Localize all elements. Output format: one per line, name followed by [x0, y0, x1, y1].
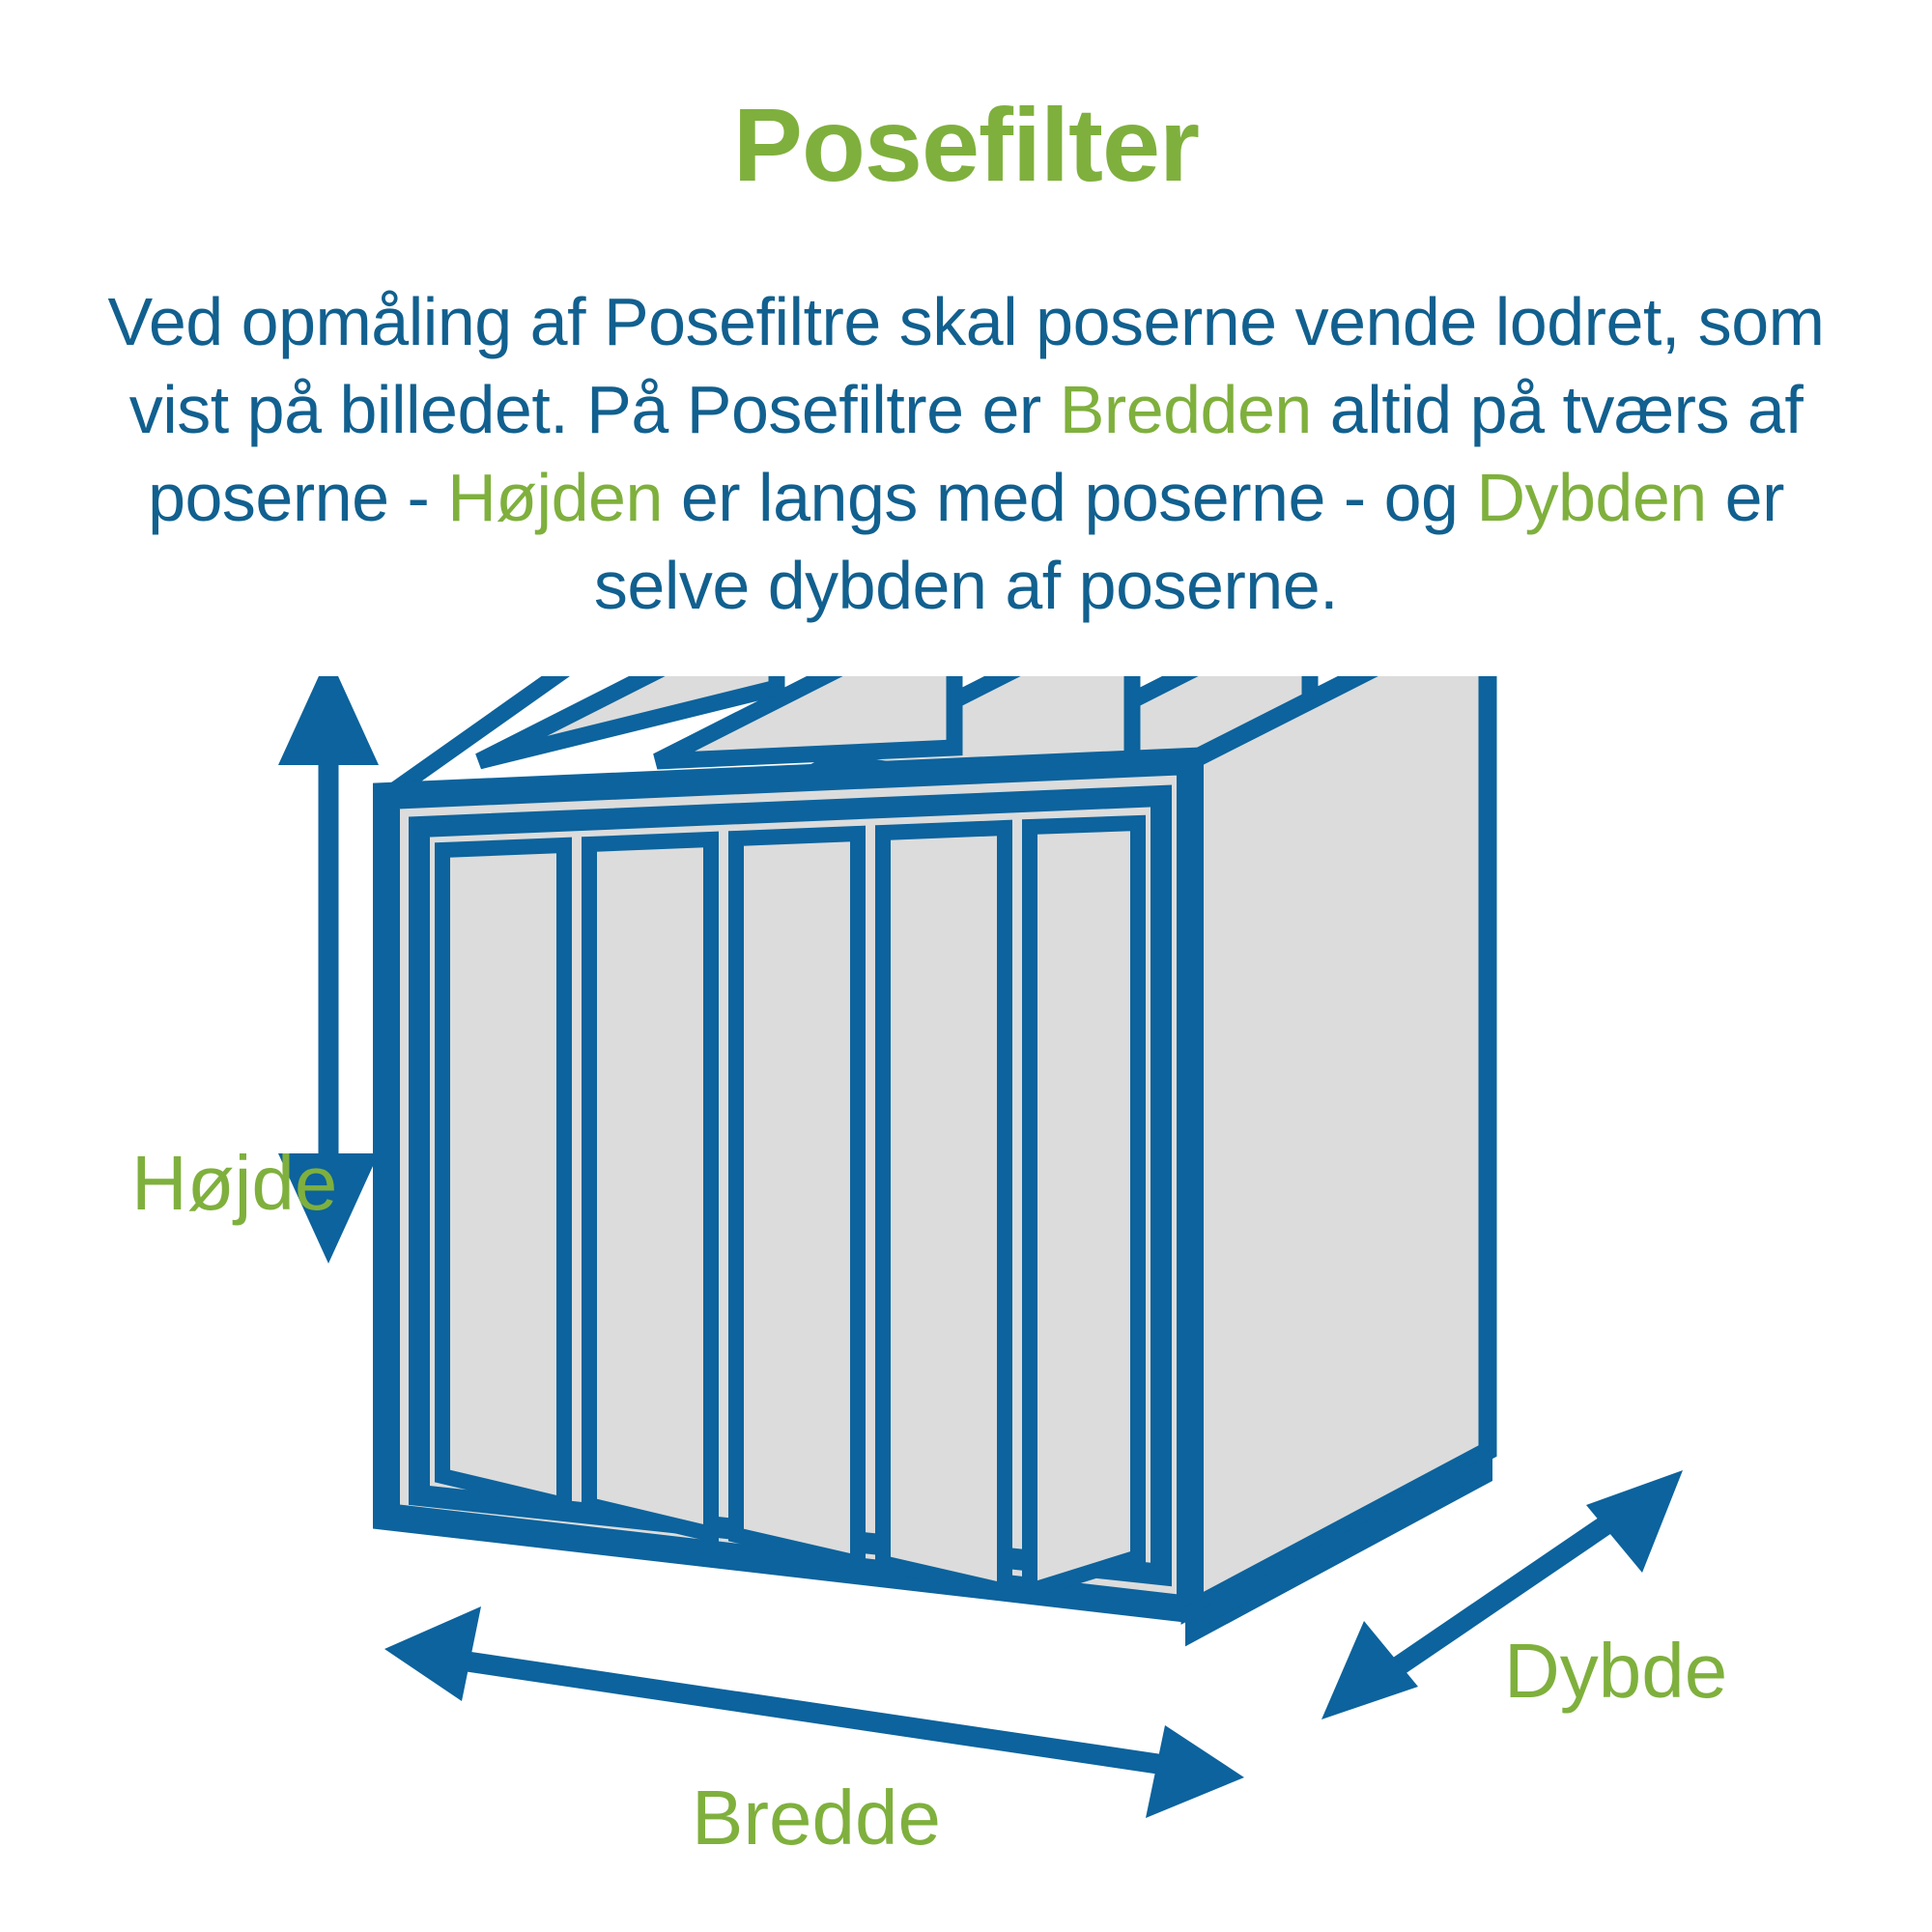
pocket-face-5	[1030, 823, 1138, 1591]
depth-arrowhead-up-right	[1586, 1470, 1683, 1573]
depth-arrowhead-down-left	[1321, 1621, 1418, 1719]
intro-line-2-part-b: altid på	[1312, 372, 1545, 447]
page-title: Posefilter	[0, 93, 1932, 197]
pocket-face-3	[736, 834, 858, 1563]
intro-line-4-part-a: - og	[1344, 460, 1477, 535]
dimension-label-depth: Dybde	[1504, 1633, 1727, 1710]
pocket-face-2	[589, 839, 711, 1534]
dimension-label-height: Højde	[131, 1145, 337, 1222]
dimension-label-width: Bredde	[692, 1779, 941, 1857]
intro-paragraph: Ved opmåling af Posefiltre skal poserne …	[87, 278, 1845, 630]
intro-highlight-dybden: Dybden	[1476, 460, 1706, 535]
intro-line-1: Ved opmåling af Posefiltre skal poserne …	[108, 284, 1680, 359]
height-arrowhead-up	[278, 676, 379, 765]
width-arrowhead-right	[1146, 1725, 1244, 1818]
width-arrowhead-left	[384, 1606, 481, 1701]
bag-filter-illustration	[0, 676, 1932, 1932]
intro-line-3-part-b: er langs med poserne	[663, 460, 1325, 535]
intro-highlight-bredden: Bredden	[1060, 372, 1312, 447]
page-root: Posefilter Ved opmåling af Posefiltre sk…	[0, 0, 1932, 1932]
filter-front-pocket-faces	[442, 823, 1138, 1591]
pocket-face-1	[442, 845, 564, 1505]
pocket-face-4	[883, 828, 1005, 1591]
intro-highlight-hojden: Højden	[447, 460, 663, 535]
